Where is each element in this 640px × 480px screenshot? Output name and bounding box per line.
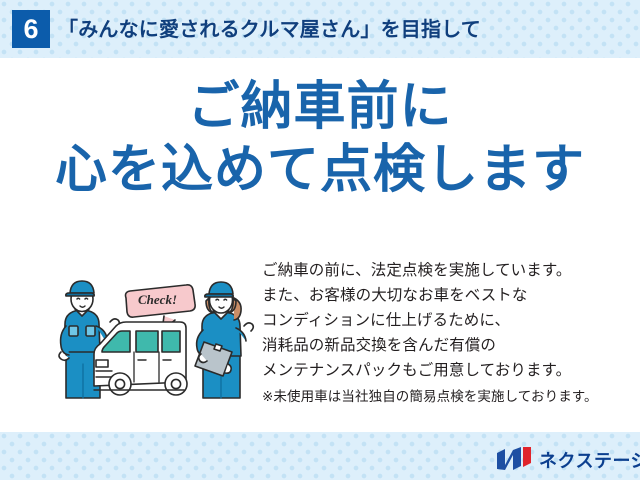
headline-line-2: 心を込めて点検します — [0, 143, 640, 198]
description-text: ご納車の前に、法定点検を実施しています。 また、お客様の大切なお車をベストな コ… — [262, 258, 626, 407]
van-illustration — [94, 322, 187, 395]
promo-card: 6 「みんなに愛されるクルマ屋さん」を目指して ご納車前に 心を込めて点検します — [0, 0, 640, 480]
description-line-3: コンディションに仕上げるために、 — [262, 308, 626, 333]
header-title: 「みんなに愛されるクルマ屋さん」を目指して — [58, 13, 481, 42]
content-panel: ご納車前に 心を込めて点検します — [0, 58, 640, 432]
header: 6 「みんなに愛されるクルマ屋さん」を目指して — [0, 0, 640, 58]
brand-logo: ネクステージ — [495, 443, 631, 475]
description-line-4: 消耗品の新品交換を含んだ有償の — [262, 333, 626, 358]
headline-line-1: ご納車前に — [0, 80, 640, 135]
section-number-badge: 6 — [12, 10, 50, 48]
description-line-1: ご納車の前に、法定点検を実施しています。 — [262, 258, 626, 283]
page-title: ご納車前に 心を込めて点検します — [0, 80, 640, 198]
description-note: ※未使用車は当社独自の簡易点検を実施しております。 — [262, 386, 626, 408]
description-line-2: また、お客様の大切なお車をベストな — [262, 283, 626, 308]
two-mechanics-with-van-illustration: Check! — [58, 268, 263, 403]
description-line-5: メンテナンスパックもご用意しております。 — [262, 358, 626, 383]
n-mark-icon — [495, 446, 535, 472]
brand-logo-text: ネクステージ — [539, 447, 640, 473]
speech-bubble-text: Check! — [138, 292, 177, 307]
mechanic-female-figure — [195, 282, 253, 398]
